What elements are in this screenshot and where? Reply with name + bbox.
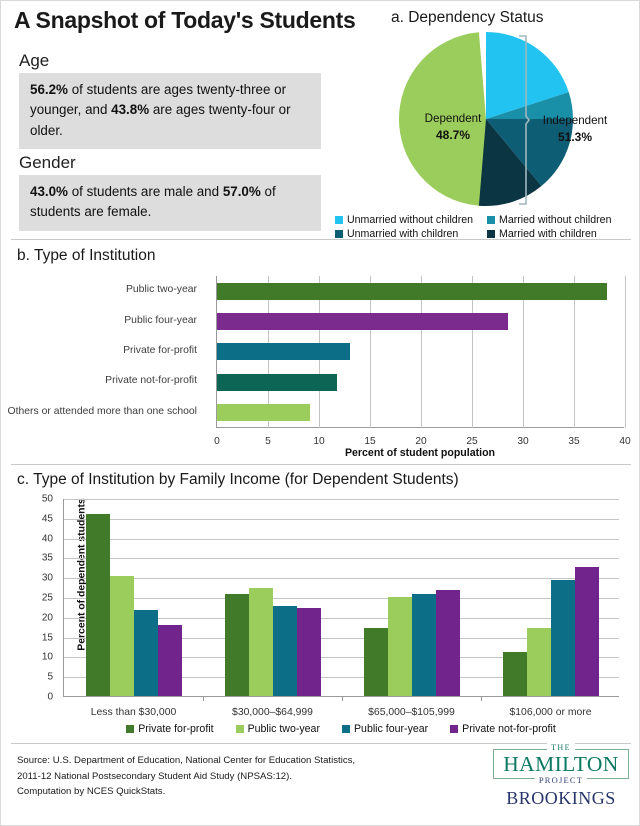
chart-c-group xyxy=(481,498,620,696)
chart-c-legend-item: Public two-year xyxy=(236,723,320,735)
age-stat-value-1: 56.2% xyxy=(30,82,68,97)
chart-c-legend-item: Public four-year xyxy=(342,723,428,735)
chart-c-bar xyxy=(575,567,599,696)
age-stat-value-2: 43.8% xyxy=(111,102,149,117)
chart-c-bar xyxy=(436,590,460,696)
chart-c-y-tick: 15 xyxy=(42,632,53,643)
divider-b xyxy=(11,239,631,240)
chart-c-group xyxy=(342,498,481,696)
divider-c xyxy=(11,464,631,465)
infographic-page: A Snapshot of Today's Students Age 56.2%… xyxy=(0,0,640,826)
chart-c-legend-item: Private for-profit xyxy=(126,723,213,735)
chart-b-gridline xyxy=(625,276,626,428)
chart-c-tick-mark xyxy=(203,696,204,701)
pie-independent-label: Independent 51.3% xyxy=(529,113,621,145)
chart-b-x-tick: 15 xyxy=(364,436,375,447)
chart-b-x-tick: 25 xyxy=(466,436,477,447)
pie-legend: Unmarried without childrenMarried withou… xyxy=(335,214,635,240)
dependency-status-pie-chart: Dependent 48.7% Independent 51.3% xyxy=(331,31,640,211)
gender-stat-value-1: 43.0% xyxy=(30,184,68,199)
chart-c-y-tick: 5 xyxy=(47,672,53,683)
chart-b-bar xyxy=(217,283,607,300)
chart-c-plot-area: Percent of dependent students 0510152025… xyxy=(63,499,619,697)
chart-c-y-tick: 50 xyxy=(42,494,53,505)
pie-legend-label: Unmarried without children xyxy=(347,214,473,226)
chart-c-bar xyxy=(364,628,388,696)
chart-c-y-tick: 30 xyxy=(42,573,53,584)
chart-c-legend-item: Private not-for-profit xyxy=(450,723,556,735)
legend-swatch-icon xyxy=(342,725,350,733)
chart-c-bar xyxy=(110,576,134,696)
legend-swatch-icon xyxy=(450,725,458,733)
chart-c-bar xyxy=(225,594,249,696)
chart-c-x-label: $30,000–$64,999 xyxy=(232,707,313,718)
pie-chart-title: a. Dependency Status xyxy=(391,9,544,27)
chart-c-bar xyxy=(388,597,412,696)
chart-c-tick-mark xyxy=(342,696,343,701)
chart-b-row: Public four-year xyxy=(217,306,624,336)
legend-swatch-icon xyxy=(126,725,134,733)
chart-c-y-tick: 20 xyxy=(42,612,53,623)
source-line-2: 2011-12 National Postsecondary Student A… xyxy=(17,769,355,785)
gender-stat-value-2: 57.0% xyxy=(223,184,261,199)
chart-c-legend-label: Private for-profit xyxy=(138,723,213,735)
chart-b-category-label: Private for-profit xyxy=(0,345,197,356)
source-note: Source: U.S. Department of Education, Na… xyxy=(17,753,355,800)
chart-c-legend-label: Public four-year xyxy=(354,723,428,735)
institution-type-bar-chart: 0510152025303540Public two-yearPublic fo… xyxy=(1,271,640,461)
chart-b-x-tick: 0 xyxy=(214,436,220,447)
pie-independent-name: Independent xyxy=(529,113,621,129)
hamilton-project-text: PROJECT xyxy=(535,775,587,785)
chart-c-x-label: $106,000 or more xyxy=(509,707,591,718)
divider-footer xyxy=(11,743,631,744)
chart-b-bar xyxy=(217,313,508,330)
chart-b-category-label: Public four-year xyxy=(0,315,197,326)
age-heading: Age xyxy=(19,51,49,71)
source-line-1: Source: U.S. Department of Education, Na… xyxy=(17,753,355,769)
chart-b-bar xyxy=(217,404,310,421)
chart-b-title: b. Type of Institution xyxy=(17,247,155,265)
gender-stat-text-1: of students are male and xyxy=(68,184,223,199)
hamilton-logo-box: THE HAMILTON PROJECT xyxy=(493,749,629,779)
chart-c-legend-label: Public two-year xyxy=(248,723,320,735)
age-stat-box: 56.2% of students are ages twenty-three … xyxy=(19,73,321,149)
chart-c-group xyxy=(203,498,342,696)
pie-dependent-name: Dependent xyxy=(413,111,493,127)
chart-b-category-label: Public two-year xyxy=(0,284,197,295)
chart-c-title: c. Type of Institution by Family Income … xyxy=(17,471,459,489)
hamilton-project-brookings-logo: THE HAMILTON PROJECT BROOKINGS xyxy=(493,749,629,809)
chart-b-category-label: Others or attended more than one school xyxy=(0,406,197,417)
gender-heading: Gender xyxy=(19,153,76,173)
legend-swatch-icon xyxy=(335,230,343,238)
hamilton-the-text: THE xyxy=(547,743,575,752)
pie-legend-item: Unmarried without children xyxy=(335,214,487,226)
chart-c-bar xyxy=(273,606,297,696)
chart-b-x-tick: 40 xyxy=(619,436,630,447)
legend-swatch-icon xyxy=(335,216,343,224)
chart-c-tick-mark xyxy=(481,696,482,701)
legend-swatch-icon xyxy=(487,216,495,224)
chart-c-y-tick: 45 xyxy=(42,513,53,524)
pie-legend-item: Married without children xyxy=(487,214,635,226)
chart-c-bar xyxy=(158,625,182,696)
chart-b-axis-title: Percent of student population xyxy=(216,447,624,459)
chart-c-y-tick: 40 xyxy=(42,533,53,544)
chart-c-y-tick: 0 xyxy=(47,692,53,703)
chart-b-row: Others or attended more than one school xyxy=(217,398,624,428)
source-line-3: Computation by NCES QuickStats. xyxy=(17,784,355,800)
chart-c-bar xyxy=(527,628,551,696)
chart-c-y-tick: 35 xyxy=(42,553,53,564)
independent-bracket-icon xyxy=(516,32,530,208)
chart-b-x-tick: 5 xyxy=(265,436,271,447)
chart-c-bar xyxy=(551,580,575,696)
chart-c-bar xyxy=(297,608,321,696)
chart-b-row: Private for-profit xyxy=(217,337,624,367)
chart-b-plot-area: 0510152025303540Public two-yearPublic fo… xyxy=(216,276,624,428)
pie-independent-pct: 51.3% xyxy=(529,129,621,145)
chart-c-legend: Private for-profitPublic two-yearPublic … xyxy=(63,723,619,735)
chart-b-x-tick: 30 xyxy=(517,436,528,447)
chart-b-x-tick: 20 xyxy=(415,436,426,447)
chart-b-x-tick: 10 xyxy=(313,436,324,447)
gender-stat-box: 43.0% of students are male and 57.0% of … xyxy=(19,175,321,231)
chart-c-x-label: $65,000–$105,999 xyxy=(368,707,455,718)
chart-b-row: Public two-year xyxy=(217,276,624,306)
chart-c-x-label: Less than $30,000 xyxy=(91,707,177,718)
chart-c-bar xyxy=(503,652,527,696)
chart-c-bar xyxy=(249,588,273,697)
chart-c-group xyxy=(64,498,203,696)
chart-c-y-tick: 25 xyxy=(42,593,53,604)
pie-dependent-pct: 48.7% xyxy=(413,127,493,143)
chart-b-x-tick: 35 xyxy=(568,436,579,447)
brookings-wordmark: BROOKINGS xyxy=(493,788,629,809)
chart-c-bar xyxy=(134,610,158,696)
legend-swatch-icon xyxy=(236,725,244,733)
chart-b-category-label: Private not-for-profit xyxy=(0,375,197,386)
chart-c-legend-label: Private not-for-profit xyxy=(462,723,556,735)
chart-b-row: Private not-for-profit xyxy=(217,367,624,397)
hamilton-wordmark: HAMILTON xyxy=(500,753,622,776)
pie-dependent-label: Dependent 48.7% xyxy=(413,111,493,143)
chart-b-bar xyxy=(217,343,350,360)
pie-legend-label: Married without children xyxy=(499,214,611,226)
institution-by-income-bar-chart: Percent of dependent students 0510152025… xyxy=(1,493,640,738)
legend-swatch-icon xyxy=(487,230,495,238)
chart-c-bar xyxy=(412,594,436,696)
page-title: A Snapshot of Today's Students xyxy=(14,7,355,34)
chart-c-y-tick: 10 xyxy=(42,652,53,663)
chart-c-bar xyxy=(86,514,110,696)
chart-b-bar xyxy=(217,374,337,391)
